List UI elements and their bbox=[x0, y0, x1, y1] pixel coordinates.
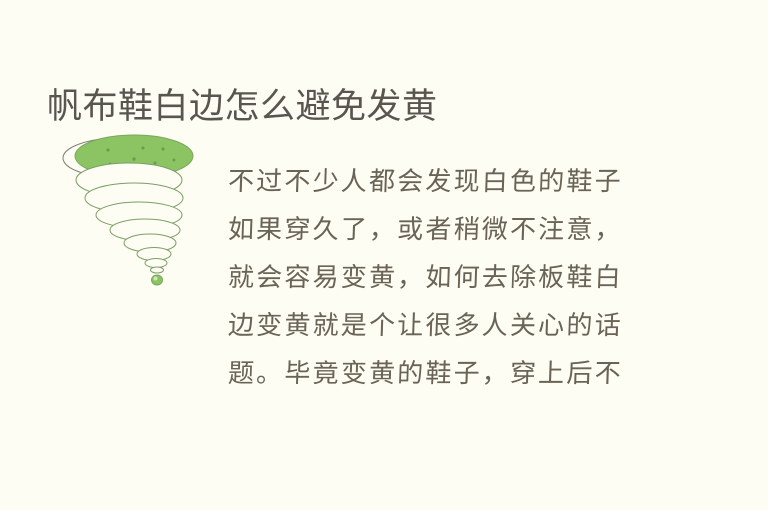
tornado-tip-dot bbox=[152, 275, 163, 285]
article-page: 帆布鞋白边怎么避免发黄 bbox=[0, 0, 768, 510]
green-tornado-illustration bbox=[46, 132, 216, 304]
body-line: 边变黄就是个让很多人关心的话 bbox=[227, 302, 639, 350]
article-body: 不过不少人都会发现白色的鞋子 如果穿久了，或者稍微不注意， 就会容易变黄，如何去… bbox=[228, 158, 638, 398]
tornado-tip-highlight bbox=[154, 277, 158, 281]
tornado-ring-8 bbox=[151, 267, 164, 273]
tornado-ring-7 bbox=[145, 259, 167, 268]
page-title: 帆布鞋白边怎么避免发黄 bbox=[47, 85, 438, 129]
body-line: 如果穿久了，或者稍微不注意， bbox=[227, 206, 639, 254]
body-line: 不过不少人都会发现白色的鞋子 bbox=[227, 158, 639, 206]
body-line: 就会容易变黄，如何去除板鞋白 bbox=[227, 254, 639, 302]
body-line: 题。毕竟变黄的鞋子，穿上后不 bbox=[227, 350, 639, 398]
